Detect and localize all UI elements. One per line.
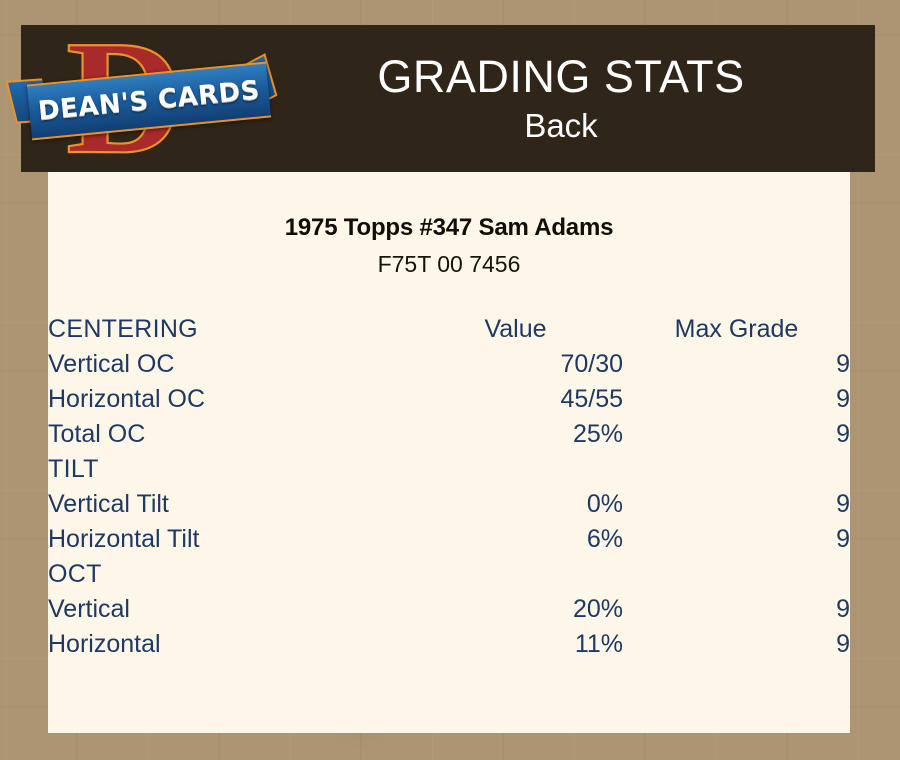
section-spacer — [408, 557, 623, 592]
table-row: Horizontal OC 45/55 9 — [48, 382, 850, 417]
stat-value: 20% — [408, 592, 623, 627]
stat-value: 45/55 — [408, 382, 623, 417]
card-title: 1975 Topps #347 Sam Adams — [48, 214, 850, 242]
stat-label: Horizontal Tilt — [48, 522, 408, 557]
stat-max-grade: 9 — [623, 627, 850, 662]
section-header-row-oct: OCT — [48, 557, 850, 592]
header-bar: D DEAN'S CARDS GRADING STATS Back — [21, 25, 875, 172]
header-title-group: GRADING STATS Back — [277, 51, 875, 147]
section-header-oct: OCT — [48, 557, 408, 592]
stat-max-grade: 9 — [623, 382, 850, 417]
stat-value: 25% — [408, 417, 623, 452]
card-code: F75T 00 7456 — [48, 251, 850, 278]
deans-cards-logo[interactable]: D DEAN'S CARDS — [21, 25, 277, 172]
page-subtitle: Back — [277, 105, 845, 147]
stat-label: Vertical — [48, 592, 408, 627]
table-body: Vertical OC 70/30 9 Horizontal OC 45/55 … — [48, 347, 850, 662]
table-row: Total OC 25% 9 — [48, 417, 850, 452]
stat-max-grade: 9 — [623, 347, 850, 382]
table-row: Vertical Tilt 0% 9 — [48, 487, 850, 522]
stat-label: Vertical Tilt — [48, 487, 408, 522]
stat-label: Horizontal — [48, 627, 408, 662]
section-header-tilt: TILT — [48, 452, 408, 487]
logo-banner-icon: DEAN'S CARDS — [27, 62, 271, 141]
grading-stats-table: CENTERING Value Max Grade Vertical OC 70… — [48, 312, 850, 662]
table-row: Vertical OC 70/30 9 — [48, 347, 850, 382]
column-header-value: Value — [408, 312, 623, 347]
stat-max-grade: 9 — [623, 487, 850, 522]
stat-max-grade: 9 — [623, 592, 850, 627]
table-row: Horizontal Tilt 6% 9 — [48, 522, 850, 557]
content-panel: 1975 Topps #347 Sam Adams F75T 00 7456 C… — [48, 172, 850, 733]
stat-value: 70/30 — [408, 347, 623, 382]
stat-max-grade: 9 — [623, 522, 850, 557]
section-spacer — [408, 452, 623, 487]
stat-max-grade: 9 — [623, 417, 850, 452]
stat-value: 0% — [408, 487, 623, 522]
stat-value: 11% — [408, 627, 623, 662]
table-row: Horizontal 11% 9 — [48, 627, 850, 662]
page-title: GRADING STATS — [277, 51, 845, 103]
section-spacer — [623, 557, 850, 592]
column-header-centering: CENTERING — [48, 312, 408, 347]
column-header-max-grade: Max Grade — [623, 312, 850, 347]
logo-banner-text: DEAN'S CARDS — [37, 75, 261, 126]
table-row: Vertical 20% 9 — [48, 592, 850, 627]
section-spacer — [623, 452, 850, 487]
section-header-row-tilt: TILT — [48, 452, 850, 487]
table-header: CENTERING Value Max Grade — [48, 312, 850, 347]
stat-value: 6% — [408, 522, 623, 557]
stat-label: Vertical OC — [48, 347, 408, 382]
stat-label: Horizontal OC — [48, 382, 408, 417]
stat-label: Total OC — [48, 417, 408, 452]
table-header-row: CENTERING Value Max Grade — [48, 312, 850, 347]
